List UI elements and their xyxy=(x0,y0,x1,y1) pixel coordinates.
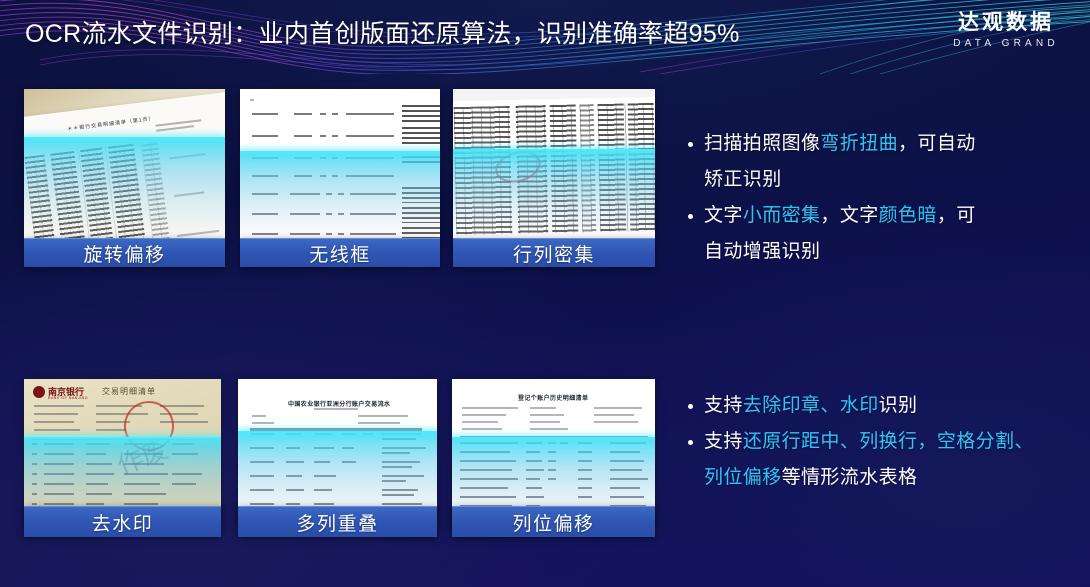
feature-bullet: 支持去除印章、水印识别 xyxy=(686,388,1066,424)
caption-label: 多列重叠 xyxy=(296,509,378,536)
thumbnail-column-shift[interactable]: 登记个账户历史明细清单 xyxy=(452,379,655,525)
slide-header: OCR流水文件识别：业内首创版面还原算法，识别准确率超95% 达观数据 DATA… xyxy=(0,0,1090,74)
bullet-text: 识别 xyxy=(879,395,918,416)
bullet-text: 文字 xyxy=(704,205,743,226)
statement-heading: 登记个账户历史明细清单 xyxy=(518,393,588,402)
thumbnail-caption-dense-grid: 行列密集 xyxy=(453,238,655,267)
bullet-highlight-text: 小而密集 xyxy=(743,205,821,226)
caption-label: 无线框 xyxy=(309,240,371,267)
bullet-highlight-text: 还原行距中、列换行，空格分割、 xyxy=(743,431,1034,452)
bullet-text: 等情形流水表格 xyxy=(782,467,918,488)
feature-bullet: 文字小而密集，文字颜色暗，可自动增强识别 xyxy=(686,198,1066,270)
thumbnail-multi-column-overlap[interactable]: 中国农业银行亚洲分行账户交易流水 xyxy=(238,379,437,525)
bullet-text: 支持 xyxy=(704,395,743,416)
bullet-highlight-text: 颜色暗 xyxy=(879,205,937,226)
thumbnail-image-dense-grid xyxy=(453,89,655,238)
thumbnail-image-borderless xyxy=(240,89,440,238)
thumbnail-caption-multi-column-overlap: 多列重叠 xyxy=(238,506,437,537)
brand-name-en: DATA GRAND xyxy=(938,38,1074,50)
bullet-highlight-text: 列位偏移 xyxy=(704,467,782,488)
page-title: OCR流水文件识别：业内首创版面还原算法，识别准确率超95% xyxy=(25,17,740,51)
thumbnail-caption-column-shift: 列位偏移 xyxy=(452,506,655,537)
caption-label: 旋转偏移 xyxy=(83,240,165,267)
thumbnail-caption-borderless: 无线框 xyxy=(240,238,440,267)
bullet-text: 矫正识别 xyxy=(704,169,782,190)
bullet-highlight-text: 去除印章、水印 xyxy=(743,395,879,416)
thumbnail-caption-remove-watermark: 去水印 xyxy=(24,506,221,537)
feature-bullet: 支持还原行距中、列换行，空格分割、列位偏移等情形流水表格 xyxy=(686,424,1066,496)
bullet-text: 自动增强识别 xyxy=(704,241,820,262)
feature-bullets-bottom: 支持去除印章、水印识别支持还原行距中、列换行，空格分割、列位偏移等情形流水表格 xyxy=(686,388,1066,496)
bullet-highlight-text: 弯折扭曲 xyxy=(820,133,898,154)
bullet-text: 支持 xyxy=(704,431,743,452)
thumbnail-image-remove-watermark: 南京银行 BANK OF NANJING 交易明细清单 xyxy=(24,379,221,525)
bullet-text: ，可自动 xyxy=(898,133,976,154)
bank-name-en: BANK OF NANJING xyxy=(48,396,88,400)
statement-heading: 交易明细清单 xyxy=(102,386,156,397)
thumbnail-remove-watermark[interactable]: 南京银行 BANK OF NANJING 交易明细清单 xyxy=(24,379,221,525)
bullet-text: ，文字 xyxy=(820,205,878,226)
thumbnail-image-column-shift: 登记个账户历史明细清单 xyxy=(452,379,655,525)
thumbnail-dense-grid[interactable] xyxy=(453,89,655,238)
thumbnail-image-multi-column-overlap: 中国农业银行亚洲分行账户交易流水 xyxy=(238,379,437,525)
feature-bullets-top: 扫描拍照图像弯折扭曲，可自动矫正识别文字小而密集，文字颜色暗，可自动增强识别 xyxy=(686,126,1066,270)
thumbnail-image-rotated-offset: ＊＊银行交易明细清单（第1页） xyxy=(24,89,225,238)
bullet-text: 扫描拍照图像 xyxy=(704,133,820,154)
slide-root: OCR流水文件识别：业内首创版面还原算法，识别准确率超95% 达观数据 DATA… xyxy=(0,0,1090,587)
thumbnail-borderless[interactable] xyxy=(240,89,440,238)
caption-label: 行列密集 xyxy=(513,240,595,267)
feature-bullet: 扫描拍照图像弯折扭曲，可自动矫正识别 xyxy=(686,126,1066,198)
caption-label: 列位偏移 xyxy=(512,509,594,536)
thumbnail-caption-rotated-offset: 旋转偏移 xyxy=(24,238,225,267)
thumbnail-rotated-offset[interactable]: ＊＊银行交易明细清单（第1页） xyxy=(24,89,225,238)
brand-name-cn: 达观数据 xyxy=(938,10,1074,35)
bullet-text: ，可 xyxy=(937,205,976,226)
brand-logo: 达观数据 DATA GRAND xyxy=(938,10,1074,50)
caption-label: 去水印 xyxy=(92,509,154,536)
statement-heading: 中国农业银行亚洲分行账户交易流水 xyxy=(288,399,390,408)
